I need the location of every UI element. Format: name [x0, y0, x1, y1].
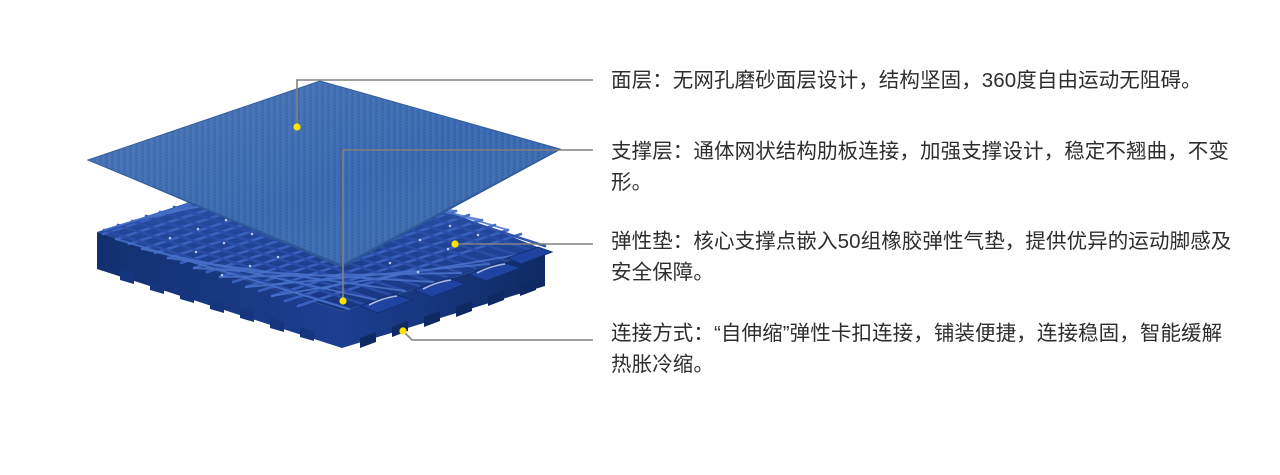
diagram-page: 面层：无网孔磨砂面层设计，结构坚固，360度自由运动无阻碍。 支撑层：通体网状结…	[0, 0, 1280, 475]
callout-text-layer: 面层：无网孔磨砂面层设计，结构坚固，360度自由运动无阻碍。 支撑层：通体网状结…	[0, 0, 1280, 475]
callout-text-support-layer: 支撑层：通体网状结构肋板连接，加强支撑设计，稳定不翘曲，不变形。	[611, 136, 1236, 198]
callout-text-connection-method: 连接方式：“自伸缩”弹性卡扣连接，铺装便捷，连接稳固，智能缓解热胀冷缩。	[611, 318, 1236, 380]
callout-text-surface-layer: 面层：无网孔磨砂面层设计，结构坚固，360度自由运动无阻碍。	[611, 65, 1236, 96]
callout-text-elastic-pad: 弹性垫：核心支撑点嵌入50组橡胶弹性气垫，提供优异的运动脚感及安全保障。	[611, 226, 1236, 288]
